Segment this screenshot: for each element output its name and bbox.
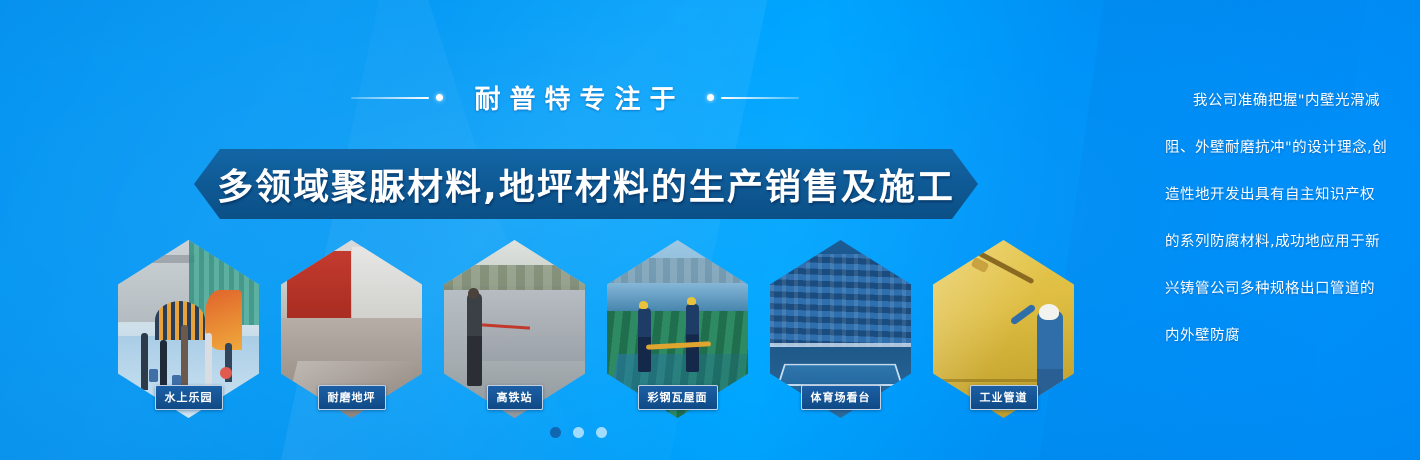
hexagon-gallery: 水上乐园 耐磨地坪 高铁站 — [118, 240, 1108, 418]
gallery-item-high-speed-rail-station[interactable]: 高铁站 — [444, 240, 585, 418]
gallery-caption: 高铁站 — [487, 385, 543, 410]
carousel-dot-3[interactable] — [596, 427, 607, 438]
hero-banner: 耐普特专注于 多领域聚脲材料,地坪材料的生产销售及施工 我公司准确把握"内壁光滑… — [0, 0, 1420, 460]
carousel-dot-2[interactable] — [573, 427, 584, 438]
gallery-item-color-steel-tile-roof[interactable]: 彩钢瓦屋面 — [607, 240, 748, 418]
carousel-dots — [0, 427, 1288, 438]
decorative-rule-left-icon — [351, 96, 443, 99]
gallery-caption: 工业管道 — [970, 385, 1038, 410]
gallery-item-stadium-stands[interactable]: 体育场看台 — [770, 240, 911, 418]
gallery-item-industrial-pipeline[interactable]: 工业管道 — [933, 240, 1074, 418]
carousel-dot-1[interactable] — [550, 427, 561, 438]
gallery-item-wear-resistant-flooring[interactable]: 耐磨地坪 — [281, 240, 422, 418]
headline-title: 多领域聚脲材料,地坪材料的生产销售及施工 — [217, 158, 955, 210]
eyebrow-title: 耐普特专注于 — [465, 79, 684, 116]
description-line: 阻、外壁耐磨抗冲"的设计理念,创 — [1165, 125, 1380, 172]
description-column: 我公司准确把握"内壁光滑减 阻、外壁耐磨抗冲"的设计理念,创 造性地开发出具有自… — [1165, 78, 1380, 360]
gallery-item-water-park[interactable]: 水上乐园 — [118, 240, 259, 418]
description-line: 的系列防腐材料,成功地应用于新 — [1165, 219, 1380, 266]
decorative-rule-right-icon — [707, 96, 799, 99]
gallery-caption: 耐磨地坪 — [318, 385, 386, 410]
description-line: 内外壁防腐 — [1165, 313, 1380, 360]
gallery-caption: 水上乐园 — [155, 385, 223, 410]
description-line: 造性地开发出具有自主知识产权 — [1165, 172, 1380, 219]
gallery-caption: 体育场看台 — [801, 385, 881, 410]
description-line: 兴铸管公司多种规格出口管道的 — [1165, 266, 1380, 313]
eyebrow-row: 耐普特专注于 — [0, 78, 1150, 116]
headline-plaque: 多领域聚脲材料,地坪材料的生产销售及施工 — [194, 149, 978, 219]
gallery-caption: 彩钢瓦屋面 — [638, 385, 718, 410]
description-line: 我公司准确把握"内壁光滑减 — [1165, 78, 1380, 125]
